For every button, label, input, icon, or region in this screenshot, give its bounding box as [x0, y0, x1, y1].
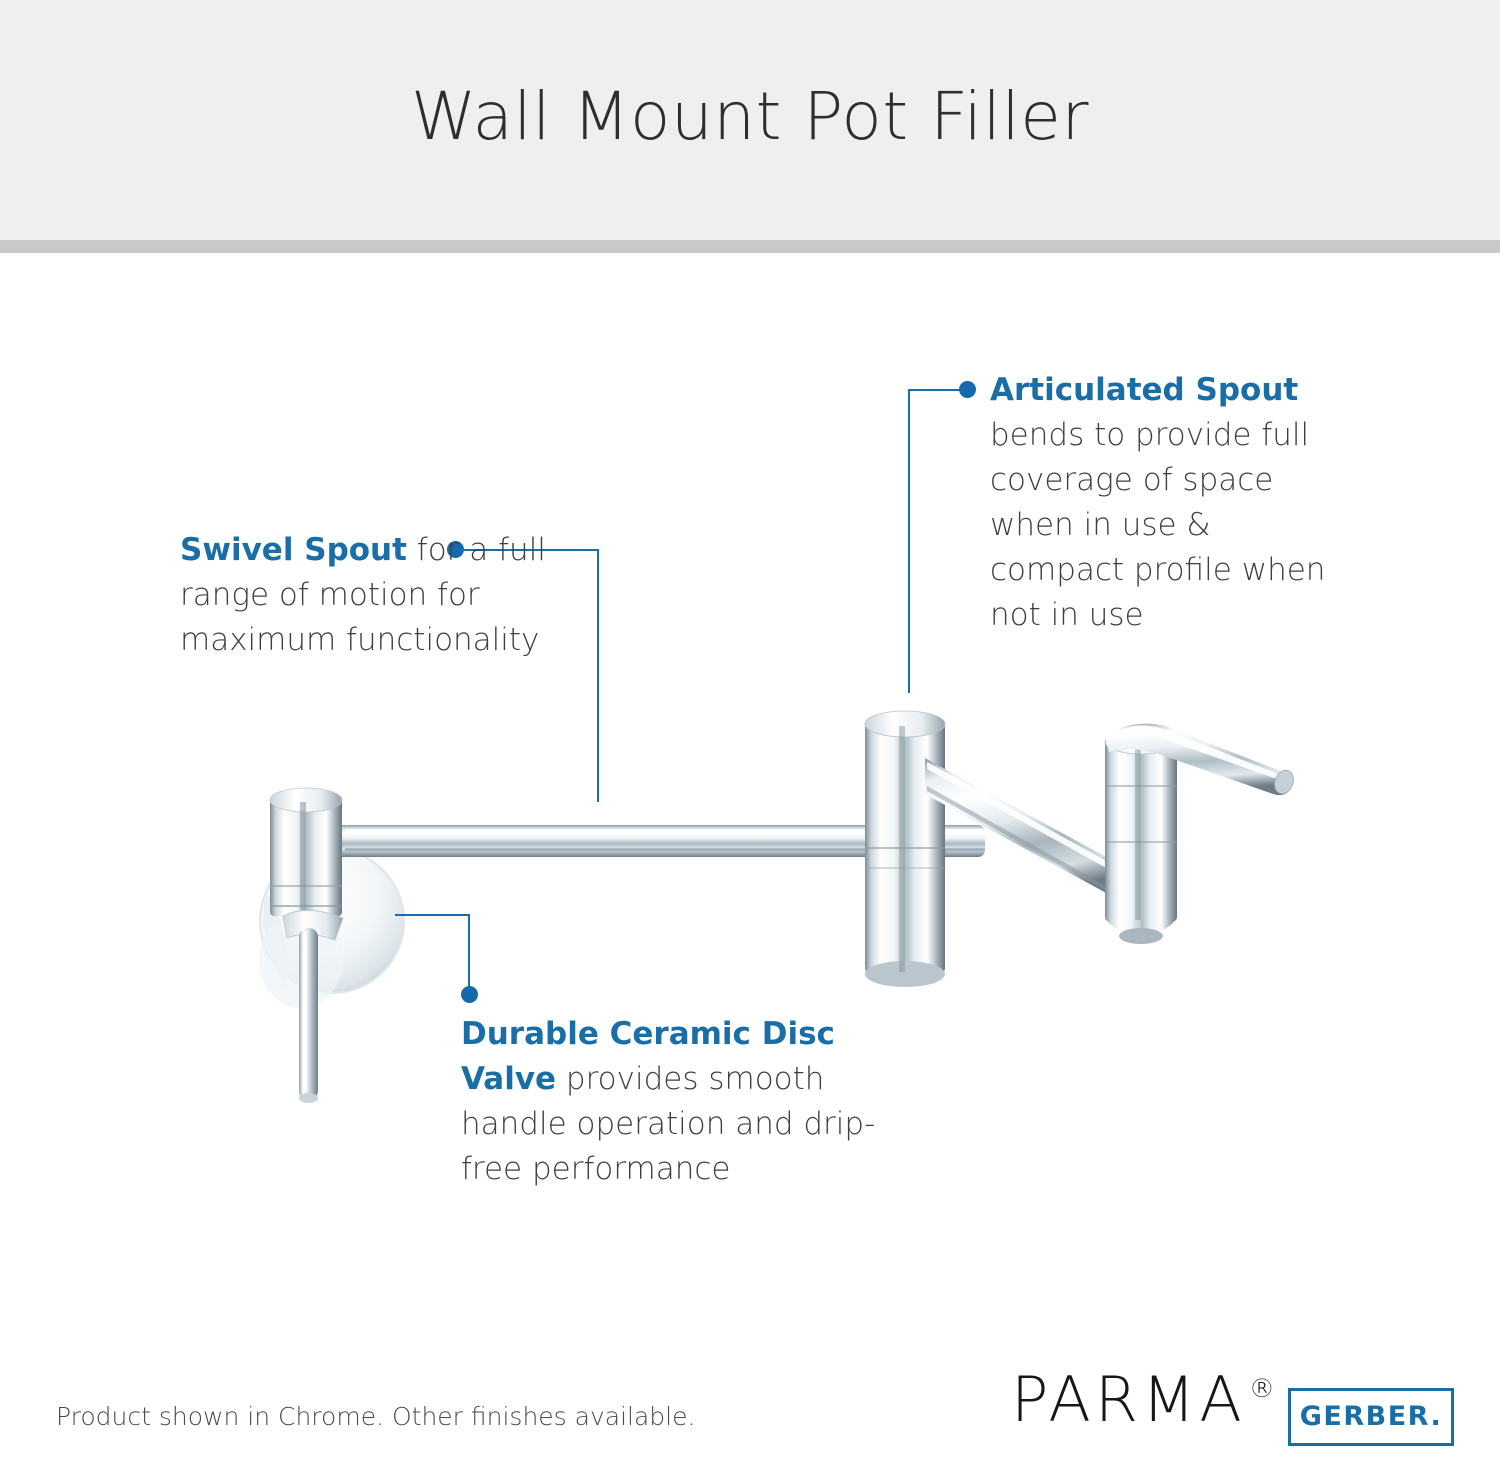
leader-line-valve-horizontal: [395, 914, 470, 916]
gerber-wordmark: GERBER.: [1291, 1391, 1451, 1443]
callout-lead-articulated-spout: Articulated Spout: [990, 372, 1298, 408]
product-infographic: Wall Mount Pot Filler: [0, 0, 1500, 1477]
finish-disclaimer: Product shown in Chrome. Other finishes …: [56, 1402, 695, 1431]
spout-mid-joint: [865, 711, 945, 987]
leader-line-articulated-vertical: [908, 389, 910, 693]
parma-wordmark: PARMA: [1011, 1363, 1246, 1436]
callout-articulated-spout: Articulated Spout bends to provide full …: [990, 368, 1350, 638]
registered-trademark-icon: ®: [1249, 1374, 1275, 1404]
leader-line-swivel-vertical: [597, 549, 599, 802]
callout-body-articulated-spout: bends to provide full coverage of space …: [990, 417, 1325, 633]
gerber-logo-box: GERBER.: [1288, 1388, 1454, 1446]
callout-swivel-spout: Swivel Spout for a full range of motion …: [180, 528, 580, 663]
leader-dot-ceramic-disc-valve: [461, 986, 478, 1003]
parma-brand-logo: PARMA®: [1011, 1363, 1275, 1436]
callout-lead-swivel-spout: Swivel Spout: [180, 532, 407, 568]
header-separator-rule: [0, 240, 1500, 253]
page-title: Wall Mount Pot Filler: [0, 78, 1500, 155]
spout-outlet-body: [1105, 730, 1177, 944]
callout-ceramic-disc-valve: Durable Ceramic Disc Valve provides smoo…: [461, 1012, 891, 1192]
valve-body-wall: [270, 788, 342, 916]
leader-line-valve-vertical: [468, 914, 470, 996]
leader-line-articulated-horizontal: [908, 389, 962, 391]
